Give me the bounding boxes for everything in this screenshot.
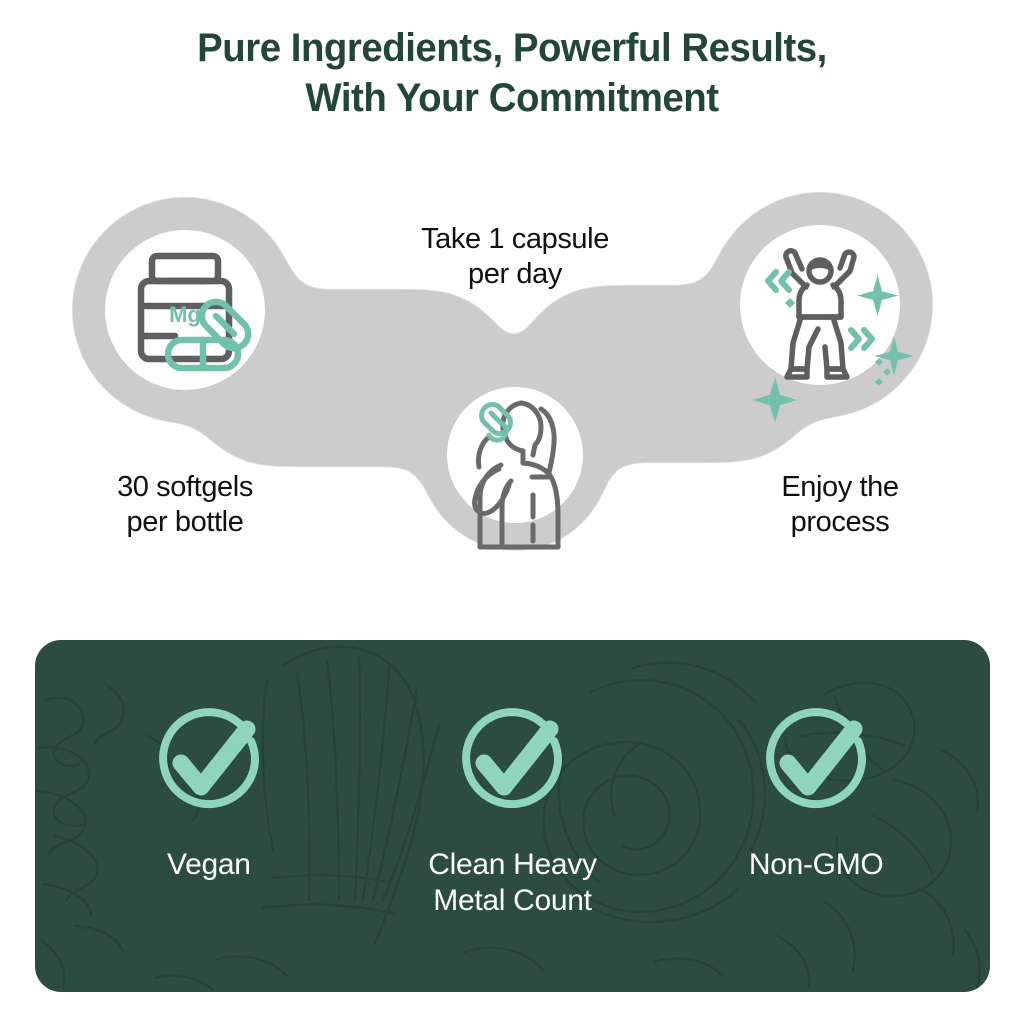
- badge-vegan-label: Vegan: [167, 847, 251, 883]
- step-label-dosage-line-1: Take 1 capsule: [365, 222, 665, 257]
- step-label-dosage: Take 1 capsule per day: [365, 222, 665, 293]
- badge-vegan-label-line-1: Vegan: [167, 847, 251, 883]
- step-label-enjoy-line-1: Enjoy the: [690, 470, 990, 505]
- badge-clean-heavy-metal: Clean Heavy Metal Count: [369, 695, 655, 919]
- check-circle-icon: [446, 695, 578, 827]
- certifications-panel: Vegan Clean Heavy Metal Count Non-GMO: [35, 640, 990, 992]
- certifications-list: Vegan Clean Heavy Metal Count Non-GMO: [35, 640, 990, 992]
- step-connector-blob: [0, 0, 1024, 640]
- badge-non-gmo-label-line-1: Non-GMO: [749, 847, 884, 883]
- badge-non-gmo-label: Non-GMO: [749, 847, 884, 883]
- step-label-dosage-line-2: per day: [365, 257, 665, 292]
- badge-non-gmo: Non-GMO: [673, 695, 959, 883]
- badge-clean-heavy-metal-label-line-1: Clean Heavy: [428, 847, 596, 883]
- badge-vegan: Vegan: [66, 695, 352, 883]
- steps-diagram: Mg: [0, 0, 1024, 640]
- bottle-label-text: Mg: [169, 302, 201, 327]
- step-label-softgels-line-1: 30 softgels: [35, 470, 335, 505]
- step-label-softgels: 30 softgels per bottle: [35, 470, 335, 541]
- badge-clean-heavy-metal-label-line-2: Metal Count: [428, 883, 596, 919]
- step-label-enjoy: Enjoy the process: [690, 470, 990, 541]
- step-label-softgels-line-2: per bottle: [35, 505, 335, 540]
- check-circle-icon: [750, 695, 882, 827]
- badge-clean-heavy-metal-label: Clean Heavy Metal Count: [428, 847, 596, 919]
- step-label-enjoy-line-2: process: [690, 505, 990, 540]
- check-circle-icon: [143, 695, 275, 827]
